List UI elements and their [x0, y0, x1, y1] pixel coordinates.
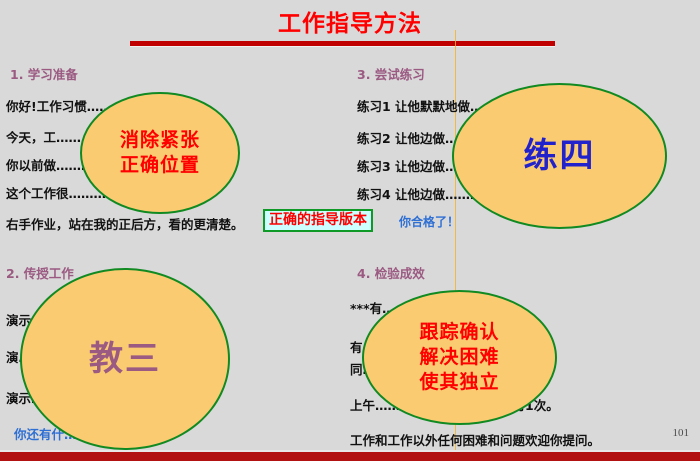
title-underline-rule — [130, 41, 555, 46]
annotation-ellipse-practice-four: 练四 — [452, 83, 667, 229]
bottom-accent-bar — [0, 452, 700, 461]
section-1-heading: 1. 学习准备 — [10, 64, 78, 83]
correct-version-callout-label: 正确的指导版本 — [269, 212, 367, 228]
annotation-ellipse-followup: 跟踪确认 解决困难 使其独立 — [362, 290, 557, 425]
annotation-followup-line-3: 使其独立 — [419, 370, 499, 395]
page-number: 101 — [673, 427, 690, 439]
annotation-relax-line-2: 正确位置 — [120, 153, 200, 178]
section-1-line-5: 右手作业，站在我的正后方，看的更清楚。 — [6, 214, 244, 233]
section-3-blue-line: 你合格了！ — [399, 213, 459, 230]
annotation-relax-line-1: 消除紧张 — [120, 128, 200, 153]
annotation-practice-four-label: 练四 — [524, 136, 596, 176]
annotation-followup-line-2: 解决困难 — [419, 345, 499, 370]
annotation-teach-three-label: 教三 — [89, 339, 161, 379]
annotation-ellipse-relax: 消除紧张 正确位置 — [80, 92, 240, 214]
page-title: 工作指导方法 — [0, 4, 700, 38]
section-4-line-5: 工作和工作以外任何困难和问题欢迎你提问。 — [350, 430, 600, 449]
section-3-heading: 3. 尝试练习 — [357, 64, 425, 83]
annotation-ellipse-teach-three: 教三 — [20, 268, 230, 450]
annotation-followup-line-1: 跟踪确认 — [419, 320, 499, 345]
correct-version-callout: 正确的指导版本 — [263, 209, 373, 232]
section-2-heading: 2. 传授工作 — [6, 263, 74, 282]
slide-canvas: 工作指导方法 1. 学习准备 你好!工作习惯…………………身体。 今天，工………… — [0, 0, 700, 461]
section-4-heading: 4. 检验成效 — [357, 263, 425, 282]
